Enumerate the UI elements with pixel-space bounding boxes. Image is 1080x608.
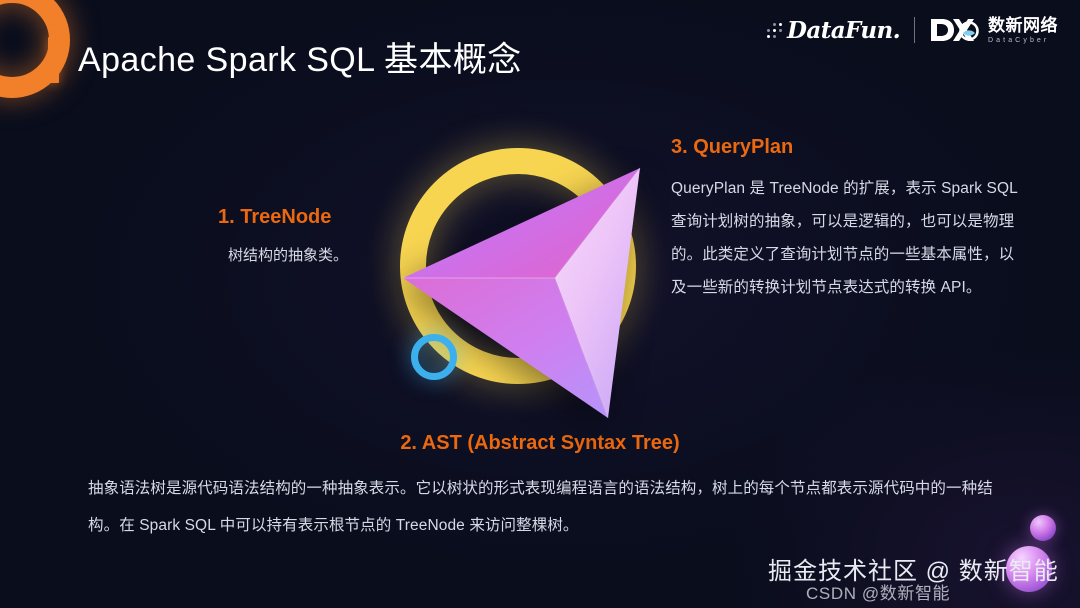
orange-ring-decoration-icon bbox=[0, 0, 70, 98]
datacyber-wordmark: 数新网络 DataCyber bbox=[988, 17, 1058, 44]
dotted-grid-icon bbox=[767, 23, 783, 39]
datacyber-logo: 数新网络 DataCyber bbox=[929, 16, 1058, 44]
purple-sphere-small bbox=[1030, 515, 1056, 541]
concept-body-queryplan: QueryPlan 是 TreeNode 的扩展，表示 Spark SQL 查询… bbox=[671, 172, 1023, 304]
concept-block-queryplan: 3. QueryPlan QueryPlan 是 TreeNode 的扩展，表示… bbox=[671, 134, 1023, 304]
datacyber-name-en: DataCyber bbox=[988, 37, 1049, 44]
slide-canvas: Apache Spark SQL 基本概念 DataFun. 数新网络 bbox=[0, 0, 1080, 608]
tetrahedron-3d-shape bbox=[380, 120, 680, 440]
blue-ring-shape bbox=[411, 334, 457, 380]
brand-divider bbox=[914, 17, 915, 43]
page-title: Apache Spark SQL 基本概念 bbox=[78, 36, 522, 84]
brand-logo-bar: DataFun. 数新网络 DataCyber bbox=[767, 12, 1058, 48]
concept-body-ast: 抽象语法树是源代码语法结构的一种抽象表示。它以树状的形式表现编程语言的语法结构，… bbox=[88, 470, 994, 544]
watermark-csdn: CSDN @数新智能 bbox=[806, 583, 950, 604]
concept-heading-queryplan: 3. QueryPlan bbox=[671, 134, 1023, 160]
datacyber-name-cn: 数新网络 bbox=[988, 17, 1058, 34]
dc-monogram-icon bbox=[929, 16, 981, 44]
orange-bar-accent bbox=[48, 37, 59, 83]
central-artwork bbox=[380, 120, 680, 440]
datafun-logo: DataFun. bbox=[767, 17, 900, 44]
datafun-wordmark: DataFun. bbox=[787, 17, 900, 44]
